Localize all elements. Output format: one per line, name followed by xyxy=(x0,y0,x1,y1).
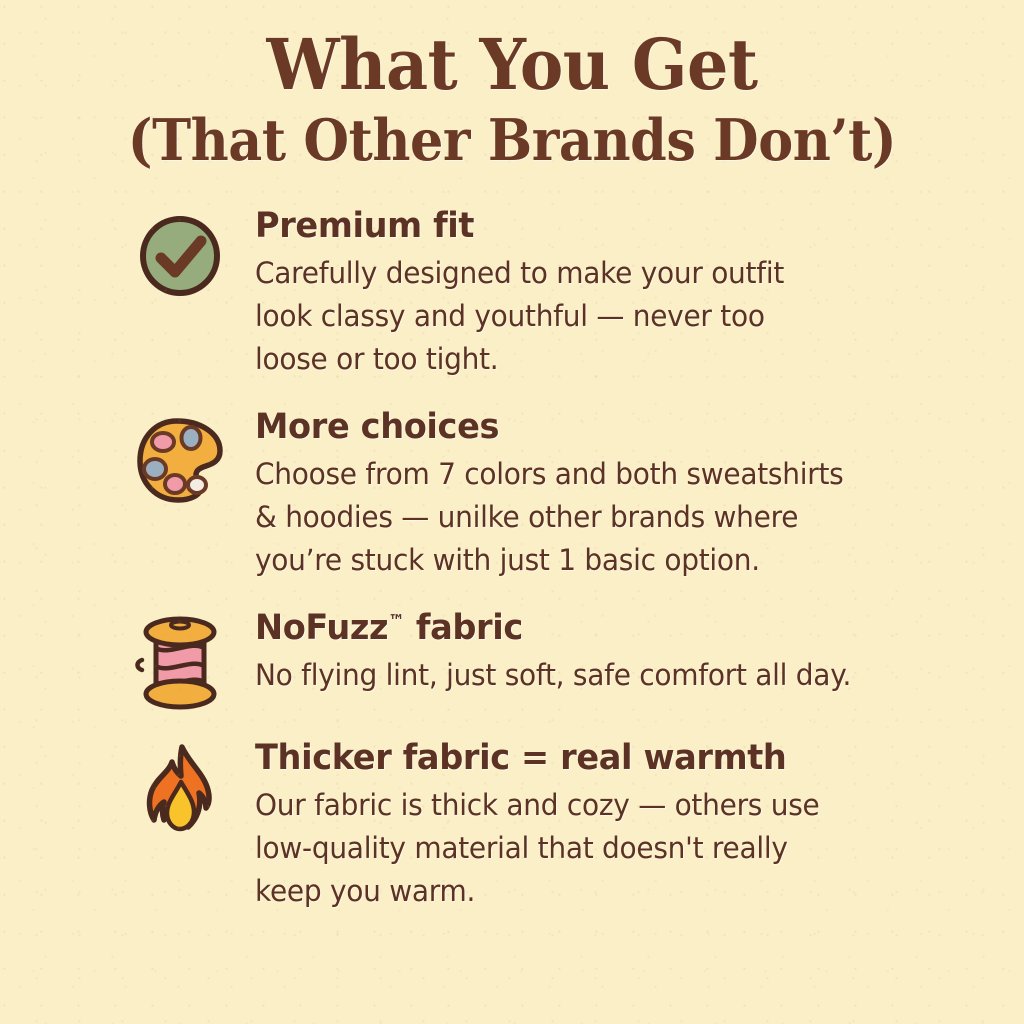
feature-heading: Premium fit xyxy=(255,204,936,248)
feature-item-more-choices: More choices Choose from 7 colors and bo… xyxy=(132,407,964,582)
paint-palette-icon xyxy=(132,411,228,507)
feature-body-line: & hoodies — unilke other brands where xyxy=(255,496,929,539)
feature-heading: More choices xyxy=(255,405,936,449)
feature-body-line: Our fabric is thick and cozy — others us… xyxy=(255,784,929,827)
check-circle-icon xyxy=(132,210,228,306)
promo-graphic: What You Get (That Other Brands Don’t) P… xyxy=(0,0,1024,1024)
feature-body: No flying lint, just soft, safe comfort … xyxy=(255,654,929,697)
page-title: What You Get (That Other Brands Don’t) xyxy=(0,0,1024,176)
trademark-glyph: ™ xyxy=(388,611,404,631)
feature-body-line: loose or too tight. xyxy=(255,338,929,381)
flame-icon xyxy=(132,742,228,838)
feature-item-nofuzz-fabric: NoFuzz™ fabric No flying lint, just soft… xyxy=(132,608,964,708)
feature-list: Premium fit Carefully designed to make y… xyxy=(0,206,1024,913)
feature-heading: NoFuzz™ fabric xyxy=(255,606,936,650)
feature-body: Choose from 7 colors and both sweatshirt… xyxy=(255,453,929,582)
feature-body-line: look classy and youthful — never too xyxy=(255,295,929,338)
feature-text-block: Premium fit Carefully designed to make y… xyxy=(228,204,964,381)
feature-body-line: Choose from 7 colors and both sweatshirt… xyxy=(255,453,929,496)
feature-body-line: low-quality material that doesn't really xyxy=(255,827,929,870)
feature-heading-prefix: NoFuzz xyxy=(255,608,388,648)
title-line-secondary: (That Other Brands Don’t) xyxy=(41,106,983,176)
feature-body-line: No flying lint, just soft, safe comfort … xyxy=(255,654,929,697)
feature-heading-suffix: fabric xyxy=(405,608,523,648)
title-line-primary: What You Get xyxy=(36,24,988,106)
feature-item-premium-fit: Premium fit Carefully designed to make y… xyxy=(132,206,964,381)
feature-body-line: Carefully designed to make your outfit xyxy=(255,252,929,295)
feature-text-block: NoFuzz™ fabric No flying lint, just soft… xyxy=(228,606,964,697)
feature-body-line: keep you warm. xyxy=(255,870,929,913)
feature-text-block: More choices Choose from 7 colors and bo… xyxy=(228,405,964,582)
thread-spool-icon xyxy=(132,612,228,708)
feature-body-line: you’re stuck with just 1 basic option. xyxy=(255,539,929,582)
feature-body: Our fabric is thick and cozy — others us… xyxy=(255,784,929,913)
feature-item-thicker-fabric: Thicker fabric = real warmth Our fabric … xyxy=(132,738,964,913)
feature-text-block: Thicker fabric = real warmth Our fabric … xyxy=(228,736,964,913)
feature-heading: Thicker fabric = real warmth xyxy=(255,736,936,780)
feature-body: Carefully designed to make your outfit l… xyxy=(255,252,929,381)
